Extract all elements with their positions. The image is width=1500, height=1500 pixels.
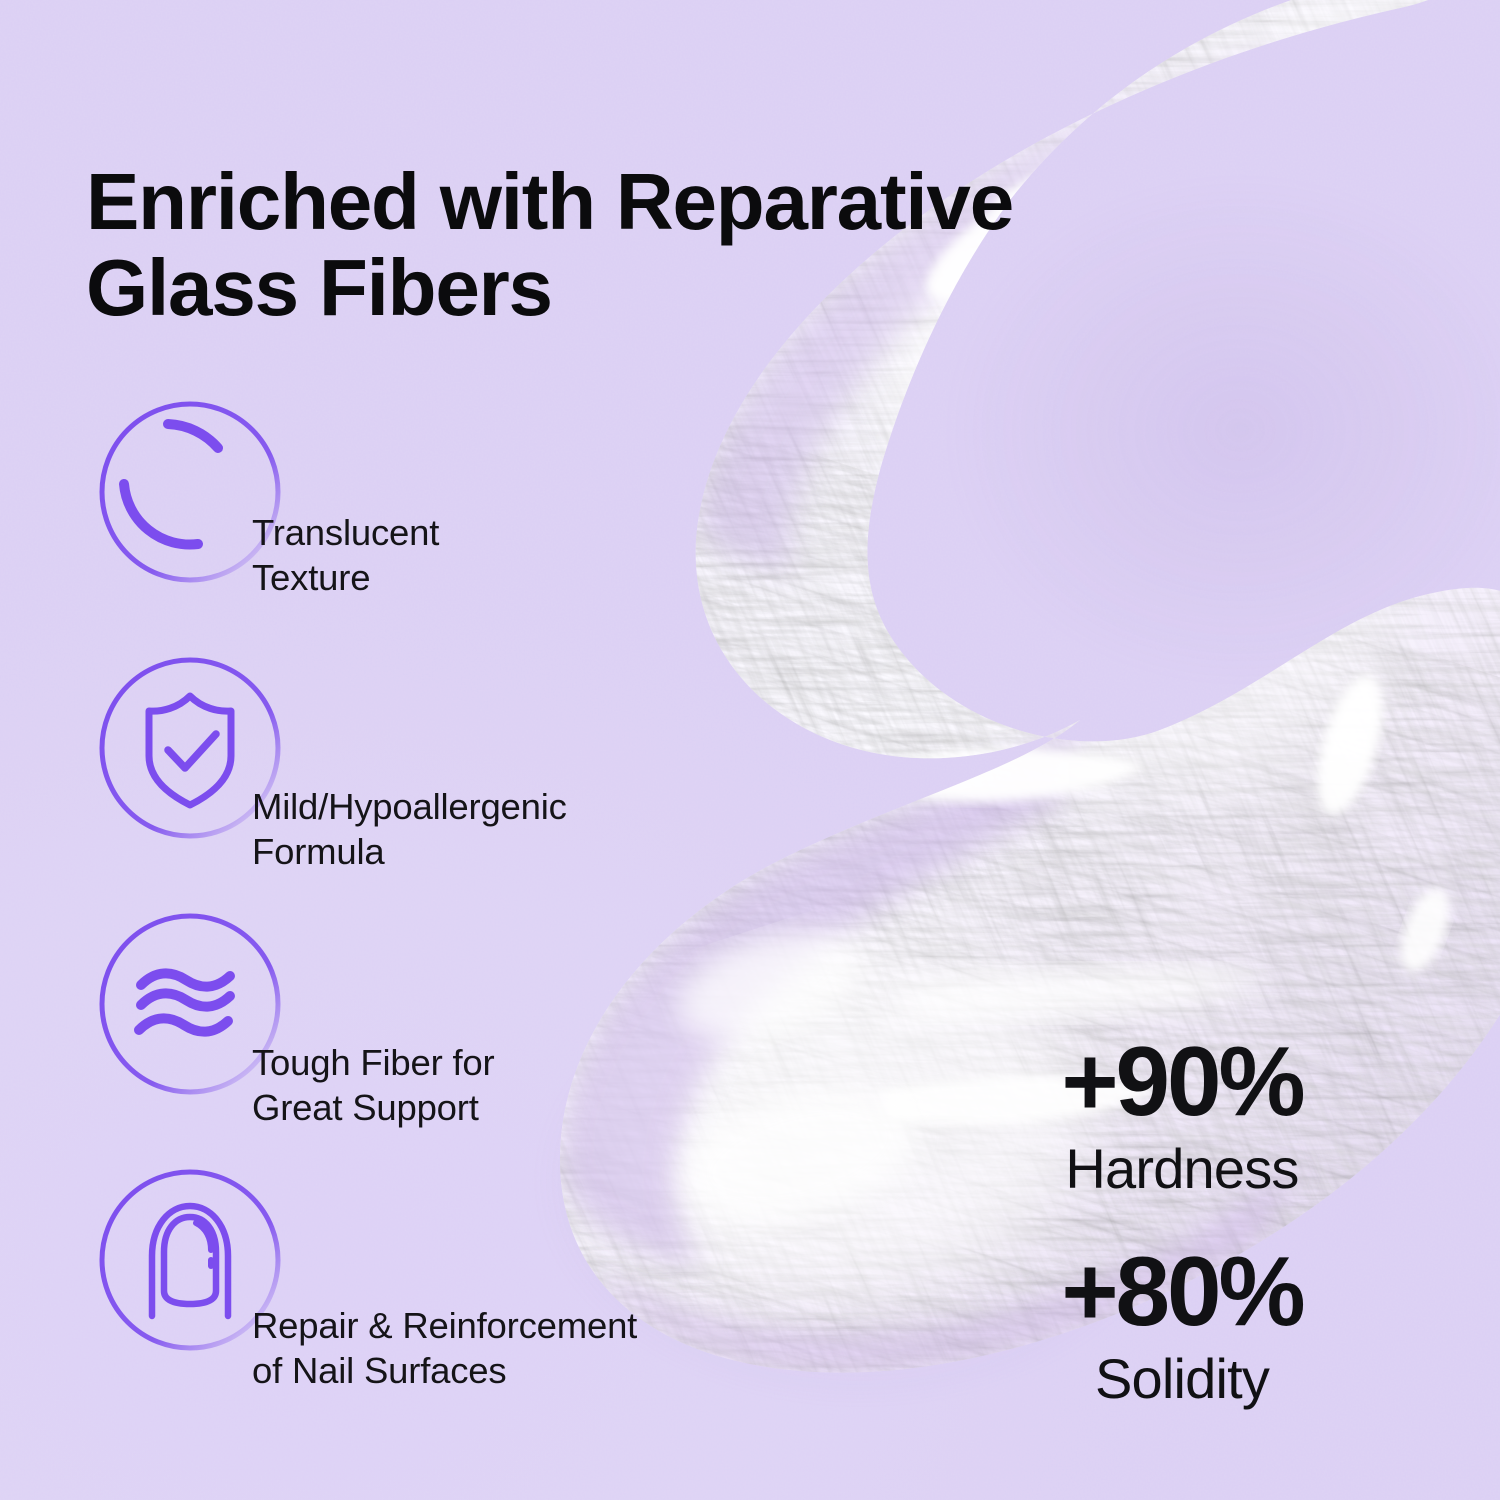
feature-label: Translucent Texture [252,510,712,601]
feature-item-repair-reinforcement: Repair & Reinforcement of Nail Surfaces [90,1160,710,1416]
stats-group: +90% Hardness +80% Solidity [942,1032,1422,1412]
feature-item-tough-fiber: Tough Fiber for Great Support [90,904,710,1160]
feature-list: Translucent Texture [90,392,710,1416]
stat-value: +90% [942,1032,1422,1130]
stat-value: +80% [942,1242,1422,1340]
stat-hardness: +90% Hardness [942,1032,1422,1202]
page-title: Enriched with Reparative Glass Fibers [86,159,1266,332]
stat-solidity: +80% Solidity [942,1242,1422,1412]
product-feature-banner: Enriched with Reparative Glass Fibers [0,0,1500,1500]
feature-item-translucent-texture: Translucent Texture [90,392,710,648]
feature-label: Tough Fiber for Great Support [252,1040,712,1131]
feature-label: Repair & Reinforcement of Nail Surfaces [252,1303,772,1394]
feature-label: Mild/Hypoallergenic Formula [252,784,752,875]
stat-label: Solidity [942,1346,1422,1412]
stat-label: Hardness [942,1136,1422,1202]
feature-item-hypoallergenic-formula: Mild/Hypoallergenic Formula [90,648,710,904]
